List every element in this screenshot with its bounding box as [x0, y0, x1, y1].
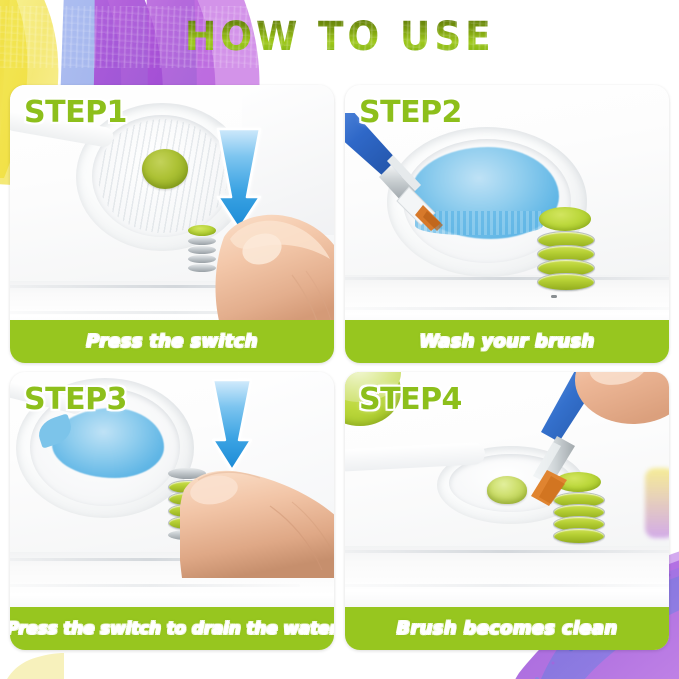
tub-front-face [345, 275, 669, 320]
step-3-caption: Press the switch to drain the water [10, 619, 334, 639]
step-4-caption: Brush becomes clean [397, 618, 618, 639]
page-title-container: HOW TO USE [0, 6, 679, 68]
step-4-label: STEP4 [359, 382, 462, 417]
down-arrow-icon [206, 378, 258, 472]
paint-brush [345, 113, 491, 233]
step-3-label: STEP3 [24, 382, 127, 417]
tub-edge-line-2 [345, 307, 669, 310]
step-1-caption: Press the switch [86, 331, 258, 352]
paint-splash-bottom-left-icon [4, 651, 64, 679]
coil-spring-object [535, 207, 595, 299]
corner-splash-peek [645, 468, 669, 538]
page-title: HOW TO USE [185, 17, 495, 57]
step-2-caption: Wash your brush [419, 331, 594, 352]
tub-edge-line [345, 550, 669, 553]
step-4-caption-bar: Brush becomes clean [345, 607, 669, 650]
tub-edge-line [345, 277, 669, 280]
step-card-3[interactable]: STEP3 Press the switch to drain the wate… [10, 372, 334, 650]
step-card-2[interactable]: STEP2 Wash your brush [345, 85, 669, 363]
step-2-label: STEP2 [359, 95, 462, 130]
step-card-4[interactable]: STEP4 Brush becomes clean [345, 372, 669, 650]
how-to-use-infographic: HOW TO USE [0, 0, 679, 679]
finger-pressing [196, 213, 334, 320]
hand-pressing [180, 468, 334, 578]
green-switch-button[interactable] [142, 149, 188, 189]
step-1-label: STEP1 [24, 95, 127, 130]
step-1-caption-bar: Press the switch [10, 320, 334, 363]
step-2-caption-bar: Wash your brush [345, 320, 669, 363]
finger-tip [561, 372, 669, 436]
tub-edge-line-2 [345, 584, 669, 587]
tub-edge-line-2 [10, 584, 300, 587]
step-card-1[interactable]: STEP1 Press the switch [10, 85, 334, 363]
tub-front-face [345, 546, 669, 607]
step-3-caption-bar: Press the switch to drain the water [10, 607, 334, 650]
